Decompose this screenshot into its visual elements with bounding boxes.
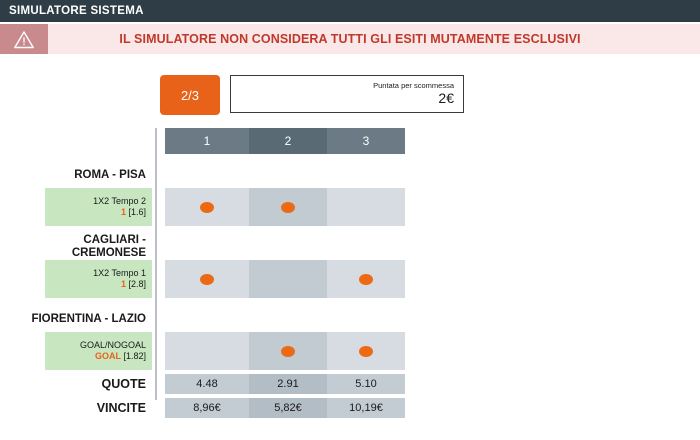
- selection-label-cell: GOAL/NOGOAL GOAL [1.82]: [0, 332, 155, 370]
- selection-pick: GOAL: [95, 351, 121, 361]
- selection-market: GOAL/NOGOAL: [80, 340, 146, 351]
- event-title-cell-2: [249, 306, 327, 332]
- selection-odd: [1.82]: [123, 351, 146, 361]
- event-title-cell-3: [327, 306, 405, 332]
- odds-total-value-2: 2.91: [249, 374, 327, 394]
- selection-cell-3[interactable]: [327, 188, 405, 226]
- event-title-row: FIORENTINA - LAZIO: [0, 306, 405, 332]
- selection-cell-2[interactable]: [249, 332, 327, 370]
- selection-box[interactable]: 1X2 Tempo 2 1 [1.6]: [45, 188, 152, 226]
- event-title-cell-3: [327, 162, 405, 188]
- event-title-cell-2: [249, 234, 327, 260]
- selection-pick-and-odd: 1 [2.8]: [121, 279, 146, 290]
- winnings-total-value-1: 8,96€: [165, 398, 249, 418]
- selected-dot-icon: [359, 346, 373, 357]
- combination-grid: 1 2 3 ROMA - PISA 1X2 Tempo 2 1 [1.6]: [0, 128, 700, 418]
- selected-dot-icon: [359, 274, 373, 285]
- event-title-cell-1: [165, 234, 249, 260]
- warning-text: IL SIMULATORE NON CONSIDERA TUTTI GLI ES…: [48, 32, 700, 46]
- selection-label-cell: 1X2 Tempo 2 1 [1.6]: [0, 188, 155, 226]
- selection-cell-3[interactable]: [327, 332, 405, 370]
- selection-row: 1X2 Tempo 2 1 [1.6]: [0, 188, 405, 226]
- winnings-total-value-2: 5,82€: [249, 398, 327, 418]
- warning-triangle-icon: [0, 24, 48, 54]
- selection-pick-and-odd: GOAL [1.82]: [95, 351, 146, 362]
- selected-dot-icon: [281, 346, 295, 357]
- spacer: [0, 154, 405, 162]
- selection-odd: [1.6]: [128, 207, 146, 217]
- selection-odd: [2.8]: [128, 279, 146, 289]
- event-title-cell-3: [327, 234, 405, 260]
- event-match-name: ROMA - PISA: [74, 169, 146, 182]
- selection-cell-1[interactable]: [165, 260, 249, 298]
- winnings-total-label: VINCITE: [0, 398, 155, 418]
- event-match-cell: ROMA - PISA: [0, 162, 155, 188]
- selection-cell-3[interactable]: [327, 260, 405, 298]
- column-header-1[interactable]: 1: [165, 128, 249, 154]
- selection-cell-2[interactable]: [249, 188, 327, 226]
- event-title-row: CAGLIARI - CREMONESE: [0, 234, 405, 260]
- event-title-row: ROMA - PISA: [0, 162, 405, 188]
- selected-dot-icon: [281, 202, 295, 213]
- event-match-name: FIORENTINA - LAZIO: [31, 313, 146, 326]
- event-title-cell-1: [165, 306, 249, 332]
- winnings-total-value-3: 10,19€: [327, 398, 405, 418]
- selection-pick: 1: [121, 207, 126, 217]
- event-title-cell-1: [165, 162, 249, 188]
- selected-dot-icon: [200, 274, 214, 285]
- grid-divider: [155, 128, 157, 400]
- spacer: [0, 298, 405, 306]
- winnings-total-row: VINCITE 8,96€ 5,82€ 10,19€: [0, 398, 405, 418]
- selected-dot-icon: [200, 202, 214, 213]
- window-title: SIMULATORE SISTEMA: [0, 5, 144, 17]
- event-match-cell: FIORENTINA - LAZIO: [0, 306, 155, 332]
- column-header-row: 1 2 3: [0, 128, 405, 154]
- stake-amount: 2€: [438, 90, 454, 106]
- stake-caption: Puntata per scommessa: [373, 82, 454, 90]
- warning-banner: IL SIMULATORE NON CONSIDERA TUTTI GLI ES…: [0, 24, 700, 54]
- selection-pick: 1: [121, 279, 126, 289]
- selection-box[interactable]: GOAL/NOGOAL GOAL [1.82]: [45, 332, 152, 370]
- column-header-2[interactable]: 2: [249, 128, 327, 154]
- title-bar: SIMULATORE SISTEMA: [0, 0, 700, 22]
- selection-market: 1X2 Tempo 2: [93, 196, 146, 207]
- odds-total-row: QUOTE 4.48 2.91 5.10: [0, 374, 405, 394]
- selection-pick-and-odd: 1 [1.6]: [121, 207, 146, 218]
- system-ratio-button[interactable]: 2/3: [160, 75, 220, 115]
- selection-cell-2[interactable]: [249, 260, 327, 298]
- header-label-spacer: [0, 128, 155, 154]
- stake-row: 2/3 Puntata per scommessa 2€: [160, 75, 464, 115]
- event-match-name: CAGLIARI - CREMONESE: [72, 234, 146, 260]
- odds-total-label: QUOTE: [0, 374, 155, 394]
- selection-box[interactable]: 1X2 Tempo 1 1 [2.8]: [45, 260, 152, 298]
- odds-total-value-3: 5.10: [327, 374, 405, 394]
- selection-label-cell: 1X2 Tempo 1 1 [2.8]: [0, 260, 155, 298]
- selection-row: GOAL/NOGOAL GOAL [1.82]: [0, 332, 405, 370]
- selection-row: 1X2 Tempo 1 1 [2.8]: [0, 260, 405, 298]
- event-match-cell: CAGLIARI - CREMONESE: [0, 234, 155, 260]
- selection-cell-1[interactable]: [165, 332, 249, 370]
- event-title-cell-2: [249, 162, 327, 188]
- spacer: [0, 226, 405, 234]
- selection-market: 1X2 Tempo 1: [93, 268, 146, 279]
- stake-per-bet-box[interactable]: Puntata per scommessa 2€: [230, 75, 464, 113]
- simulator-window: SIMULATORE SISTEMA IL SIMULATORE NON CON…: [0, 0, 700, 440]
- odds-total-value-1: 4.48: [165, 374, 249, 394]
- column-header-3[interactable]: 3: [327, 128, 405, 154]
- selection-cell-1[interactable]: [165, 188, 249, 226]
